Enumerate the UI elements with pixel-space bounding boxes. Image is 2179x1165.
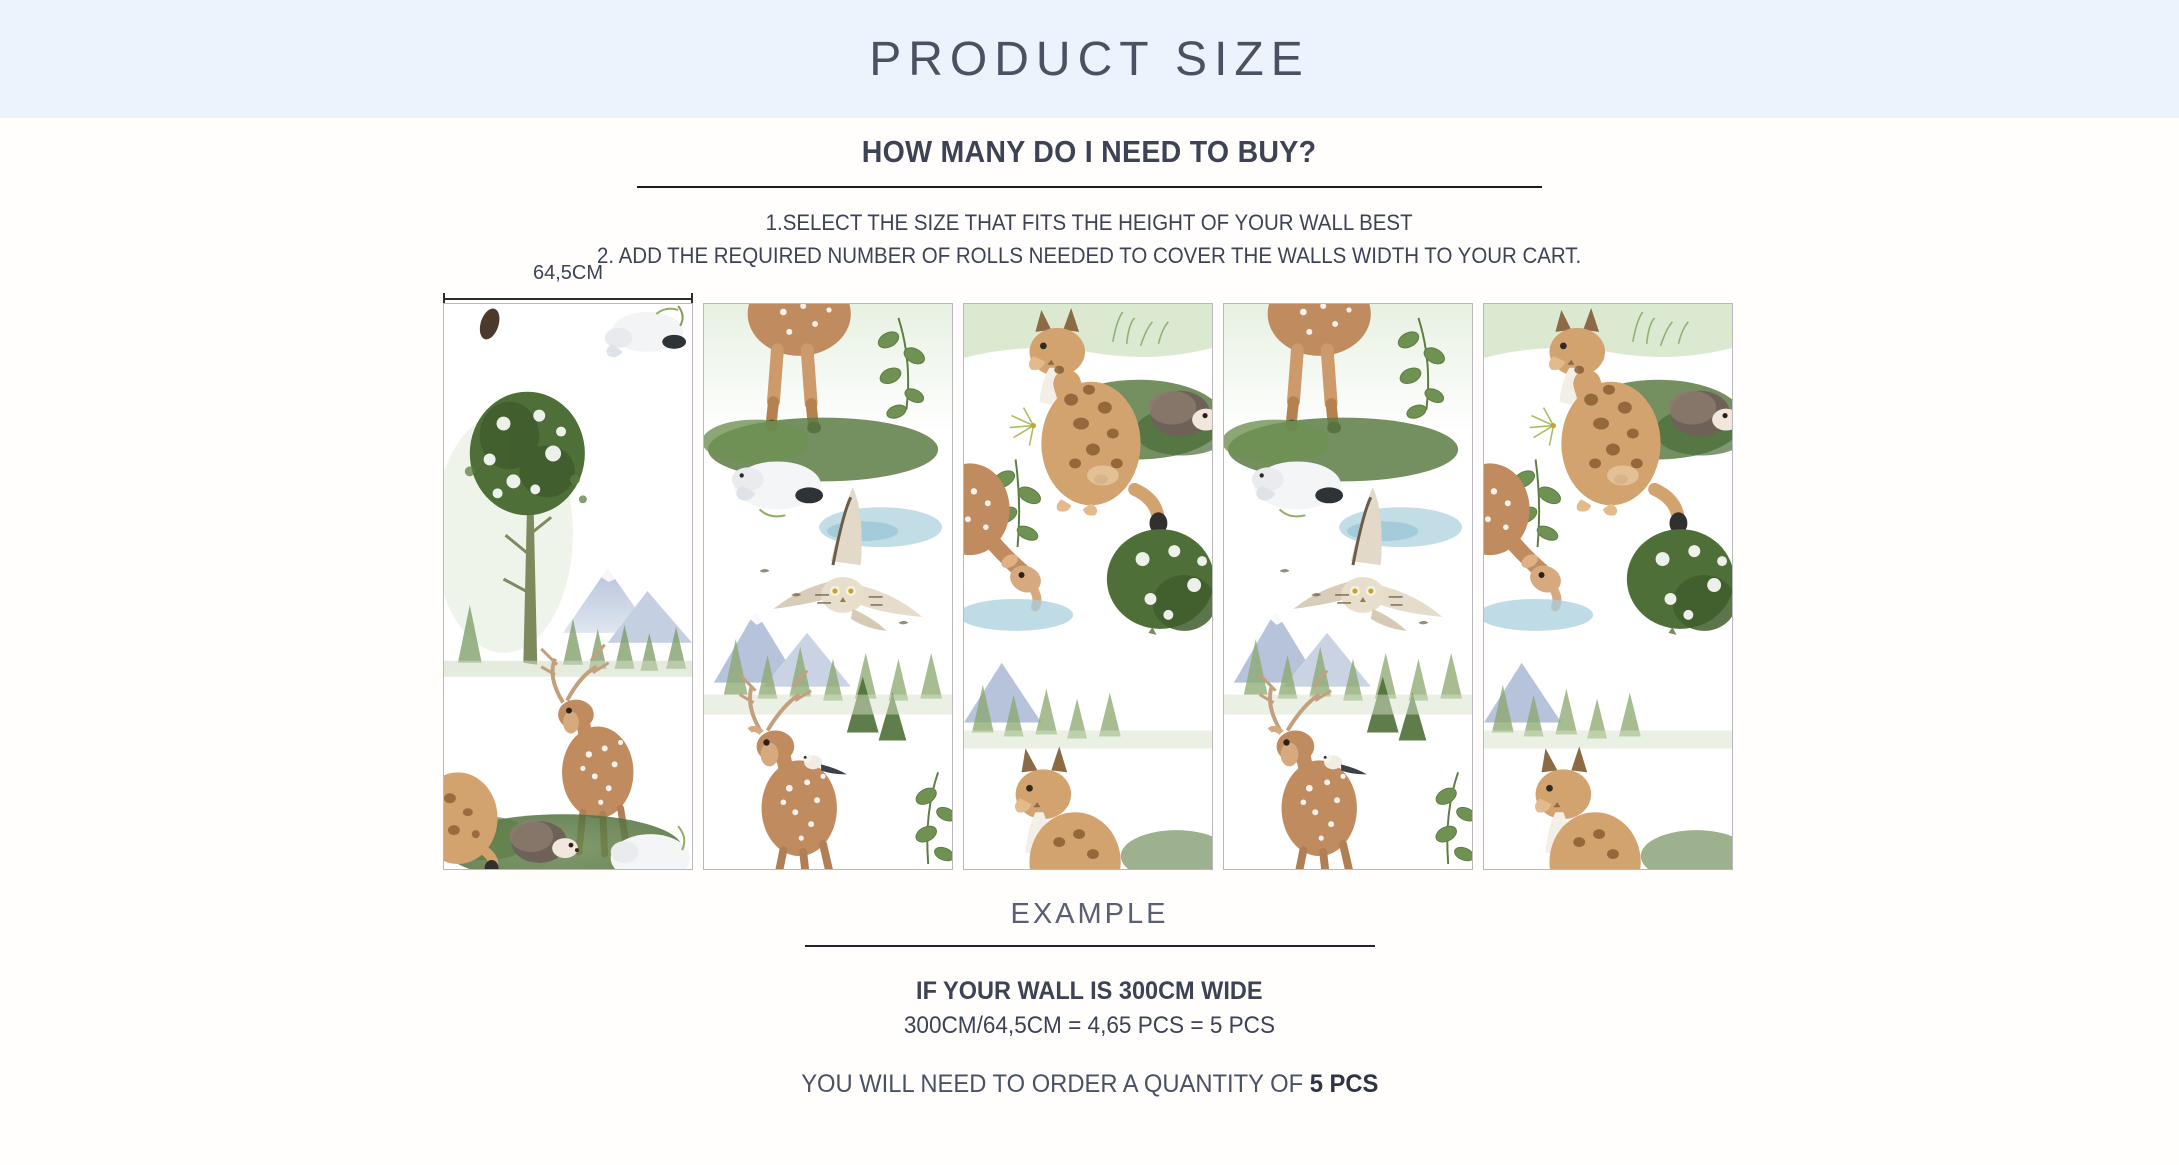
example-title: EXAMPLE bbox=[1011, 898, 1169, 931]
instructions-section: HOW MANY DO I NEED TO BUY? 1.SELECT THE … bbox=[0, 134, 2179, 272]
example-section: EXAMPLE IF YOUR WALL IS 300CM WIDE 300CM… bbox=[0, 898, 2179, 1099]
example-wall-width: IF YOUR WALL IS 300CM WIDE bbox=[916, 977, 1262, 1006]
wallpaper-panel-5[interactable] bbox=[1483, 303, 1733, 870]
dimension-bar bbox=[443, 298, 693, 300]
steps-list: 1.SELECT THE SIZE THAT FITS THE HEIGHT O… bbox=[560, 206, 1618, 272]
wallpaper-panel-2[interactable] bbox=[703, 303, 953, 870]
page-banner: PRODUCT SIZE bbox=[0, 0, 2179, 118]
dimension-label: 64,5CM bbox=[443, 262, 693, 285]
wallpaper-panel-4[interactable] bbox=[1223, 303, 1473, 870]
heading-divider bbox=[637, 186, 1542, 188]
section-heading: HOW MANY DO I NEED TO BUY? bbox=[862, 134, 1317, 170]
step-item-1: 1.SELECT THE SIZE THAT FITS THE HEIGHT O… bbox=[597, 206, 1581, 239]
product-size-infographic: PRODUCT SIZE HOW MANY DO I NEED TO BUY? … bbox=[0, 0, 2179, 1165]
example-calculation: 300CM/64,5CM = 4,65 PCS = 5 PCS bbox=[904, 1012, 1275, 1040]
example-divider bbox=[805, 945, 1375, 947]
step-item-2: 2. ADD THE REQUIRED NUMBER OF ROLLS NEED… bbox=[597, 239, 1581, 272]
wallpaper-panel-3[interactable] bbox=[963, 303, 1213, 870]
wallpaper-panel-1[interactable] bbox=[443, 303, 693, 870]
example-result-prefix: YOU WILL NEED TO ORDER A QUANTITY OF bbox=[801, 1070, 1310, 1098]
wallpaper-panel-strip bbox=[443, 303, 1733, 870]
example-result-quantity: 5 PCS bbox=[1309, 1070, 1378, 1098]
example-result: YOU WILL NEED TO ORDER A QUANTITY OF 5 P… bbox=[801, 1070, 1378, 1099]
page-title: PRODUCT SIZE bbox=[869, 32, 1309, 87]
